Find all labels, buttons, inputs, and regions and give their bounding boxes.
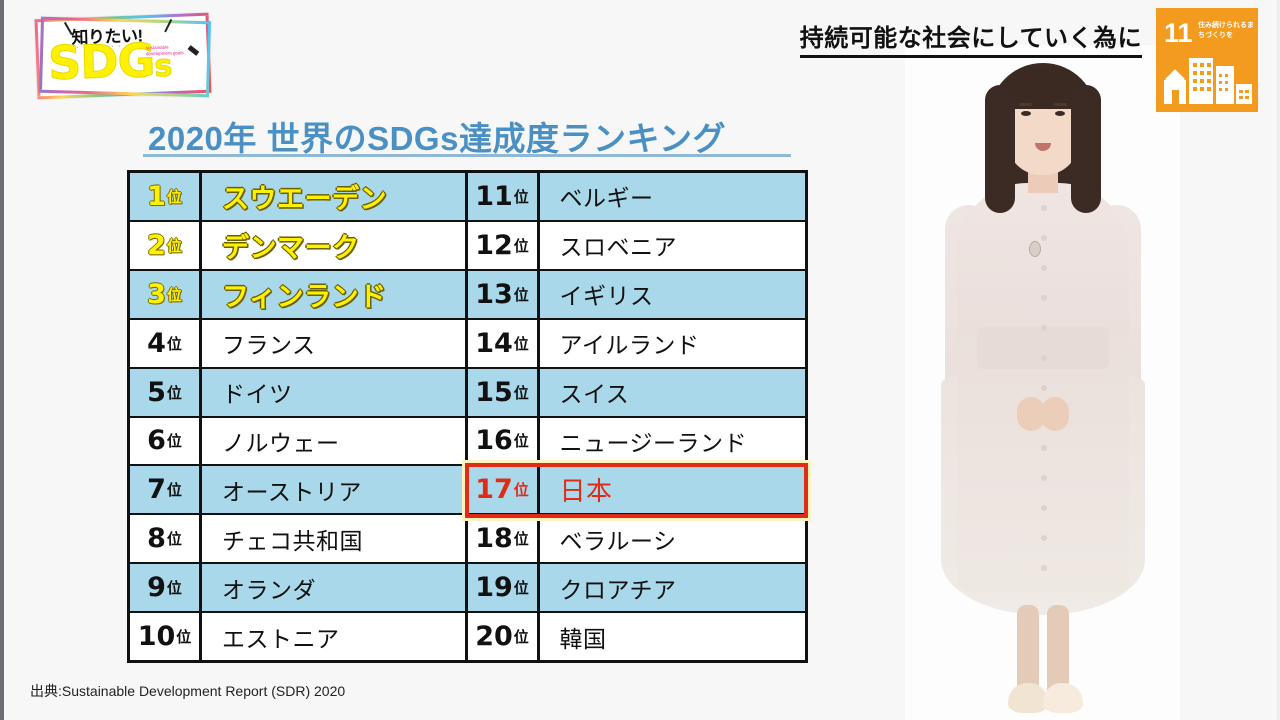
country-name: ドイツ bbox=[202, 375, 293, 409]
rank-cell: 8位 bbox=[130, 515, 202, 562]
rank-cell: 18位 bbox=[468, 515, 540, 562]
rank-suffix: 位 bbox=[167, 577, 182, 598]
table-row: 13位イギリス bbox=[468, 271, 806, 320]
rank-cell: 19位 bbox=[468, 564, 540, 611]
country-name: フランス bbox=[202, 326, 316, 360]
country-name: フィンランド bbox=[202, 275, 386, 314]
rank-cell: 16位 bbox=[468, 418, 540, 465]
rank-number: 1 bbox=[147, 183, 166, 210]
presenter-brooch bbox=[1029, 241, 1041, 257]
rank-number: 5 bbox=[147, 379, 166, 406]
presenter-eyebrow-left bbox=[1019, 103, 1032, 106]
rank-cell: 5位 bbox=[130, 369, 202, 416]
table-row: 12位スロベニア bbox=[468, 222, 806, 271]
table-row: 5位ドイツ bbox=[130, 369, 465, 418]
country-name: チェコ共和国 bbox=[202, 522, 363, 556]
rank-suffix: 位 bbox=[514, 430, 529, 451]
country-name: クロアチア bbox=[540, 571, 677, 605]
table-row: 14位アイルランド bbox=[468, 320, 806, 369]
sdg-goal-label: 住み続けられるまちづくりを bbox=[1198, 21, 1254, 41]
table-row: 20位韓国 bbox=[468, 613, 806, 660]
rank-number: 20 bbox=[475, 623, 513, 650]
table-row: 11位ベルギー bbox=[468, 173, 806, 222]
logo-slash-right-icon bbox=[164, 19, 172, 32]
rank-suffix: 位 bbox=[167, 528, 182, 549]
presenter-eye-left bbox=[1021, 111, 1031, 116]
rank-suffix: 位 bbox=[167, 186, 182, 207]
rank-suffix: 位 bbox=[514, 235, 529, 256]
country-name: スロベニア bbox=[540, 228, 678, 262]
rank-cell: 10位 bbox=[130, 613, 202, 660]
rank-suffix: 位 bbox=[514, 626, 529, 647]
country-name: 日本 bbox=[540, 471, 613, 508]
rank-number: 7 bbox=[147, 476, 166, 503]
rank-cell: 4位 bbox=[130, 320, 202, 367]
rank-cell: 1位 bbox=[130, 173, 202, 220]
ranking-table: 1位スウエーデン2位デンマーク3位フィンランド4位フランス5位ドイツ6位ノルウェ… bbox=[127, 170, 808, 663]
ranking-table-right-column: 11位ベルギー12位スロベニア13位イギリス14位アイルランド15位スイス16位… bbox=[468, 173, 806, 660]
presenter-hair-side-left bbox=[985, 85, 1015, 213]
logo-content: 知りたい! ・・・・・・・・・・・・ SDGs sustainable deve… bbox=[41, 18, 201, 90]
table-row: 16位ニュージーランド bbox=[468, 418, 806, 467]
rank-number: 6 bbox=[147, 427, 166, 454]
page-title: 2020年 世界のSDGs達成度ランキング bbox=[148, 112, 726, 160]
rank-suffix: 位 bbox=[167, 235, 182, 256]
country-name: ニュージーランド bbox=[540, 424, 748, 458]
rank-cell: 12位 bbox=[468, 222, 540, 269]
rank-suffix: 位 bbox=[167, 333, 182, 354]
rank-cell: 2位 bbox=[130, 222, 202, 269]
country-name: ノルウェー bbox=[202, 424, 340, 458]
rank-number: 12 bbox=[475, 232, 513, 259]
country-name: ベラルーシ bbox=[540, 522, 677, 556]
table-row: 18位ベラルーシ bbox=[468, 515, 806, 564]
rank-suffix: 位 bbox=[176, 626, 191, 647]
source-note: 出典:Sustainable Development Report (SDR) … bbox=[30, 681, 345, 701]
rank-cell: 11位 bbox=[468, 173, 540, 220]
rank-number: 8 bbox=[147, 525, 166, 552]
rank-suffix: 位 bbox=[167, 284, 182, 305]
presenter-figure bbox=[905, 45, 1180, 720]
presenter-shoe-left bbox=[1008, 683, 1048, 713]
table-row: 8位チェコ共和国 bbox=[130, 515, 465, 564]
logo-tiny-text: sustainable development goals bbox=[146, 44, 190, 57]
rank-cell: 15位 bbox=[468, 369, 540, 416]
table-row: 3位フィンランド bbox=[130, 271, 465, 320]
rank-suffix: 位 bbox=[167, 382, 182, 403]
rank-number: 3 bbox=[147, 281, 166, 308]
left-edge-strip bbox=[0, 0, 4, 720]
rank-suffix: 位 bbox=[167, 430, 182, 451]
rank-suffix: 位 bbox=[514, 284, 529, 305]
rank-number: 10 bbox=[138, 623, 176, 650]
country-name: スウエーデン bbox=[202, 177, 387, 216]
rank-suffix: 位 bbox=[514, 382, 529, 403]
country-name: デンマーク bbox=[202, 226, 360, 265]
country-name: オランダ bbox=[202, 571, 316, 605]
presenter-shoe-right bbox=[1043, 683, 1083, 713]
table-row: 19位クロアチア bbox=[468, 564, 806, 613]
table-row: 10位エストニア bbox=[130, 613, 465, 660]
country-name: スイス bbox=[540, 375, 630, 409]
table-row: 6位ノルウェー bbox=[130, 418, 465, 467]
rank-cell: 7位 bbox=[130, 466, 202, 513]
rank-number: 4 bbox=[147, 330, 166, 357]
table-row: 2位デンマーク bbox=[130, 222, 465, 271]
rank-number: 17 bbox=[475, 476, 513, 503]
country-name: エストニア bbox=[202, 620, 340, 654]
table-row: 17位日本 bbox=[468, 466, 806, 515]
presenter-hair-side-right bbox=[1071, 85, 1101, 213]
country-name: オーストリア bbox=[202, 473, 362, 507]
rank-cell: 6位 bbox=[130, 418, 202, 465]
rank-number: 15 bbox=[475, 379, 513, 406]
rank-number: 9 bbox=[147, 574, 166, 601]
rank-cell: 20位 bbox=[468, 613, 540, 660]
rank-suffix: 位 bbox=[514, 577, 529, 598]
presenter-eyebrow-right bbox=[1054, 103, 1067, 106]
table-row: 4位フランス bbox=[130, 320, 465, 369]
rank-number: 13 bbox=[475, 281, 513, 308]
country-name: イギリス bbox=[540, 277, 654, 311]
rank-number: 19 bbox=[475, 574, 513, 601]
table-row: 9位オランダ bbox=[130, 564, 465, 613]
rank-number: 2 bbox=[147, 232, 166, 259]
ranking-table-left-column: 1位スウエーデン2位デンマーク3位フィンランド4位フランス5位ドイツ6位ノルウェ… bbox=[130, 173, 468, 660]
rank-suffix: 位 bbox=[514, 333, 529, 354]
rank-number: 14 bbox=[475, 330, 513, 357]
rank-number: 11 bbox=[475, 183, 513, 210]
table-row: 15位スイス bbox=[468, 369, 806, 418]
country-name: ベルギー bbox=[540, 179, 654, 213]
table-row: 7位オーストリア bbox=[130, 466, 465, 515]
rank-number: 18 bbox=[475, 525, 513, 552]
rank-cell: 3位 bbox=[130, 271, 202, 318]
rank-cell: 17位 bbox=[468, 466, 540, 513]
rank-suffix: 位 bbox=[514, 479, 529, 500]
page-title-underline bbox=[143, 154, 791, 157]
rank-suffix: 位 bbox=[167, 479, 182, 500]
rank-suffix: 位 bbox=[514, 528, 529, 549]
rank-suffix: 位 bbox=[514, 186, 529, 207]
presenter-eye-right bbox=[1055, 111, 1065, 116]
rank-cell: 13位 bbox=[468, 271, 540, 318]
rank-cell: 9位 bbox=[130, 564, 202, 611]
presenter-hand-right bbox=[1041, 397, 1069, 431]
program-logo: 知りたい! ・・・・・・・・・・・・ SDGs sustainable deve… bbox=[28, 6, 214, 100]
country-name: 韓国 bbox=[540, 620, 607, 654]
rank-number: 16 bbox=[475, 427, 513, 454]
rank-cell: 14位 bbox=[468, 320, 540, 367]
country-name: アイルランド bbox=[540, 326, 700, 360]
table-row: 1位スウエーデン bbox=[130, 173, 465, 222]
sdg-goal-number: 11 bbox=[1164, 20, 1193, 47]
